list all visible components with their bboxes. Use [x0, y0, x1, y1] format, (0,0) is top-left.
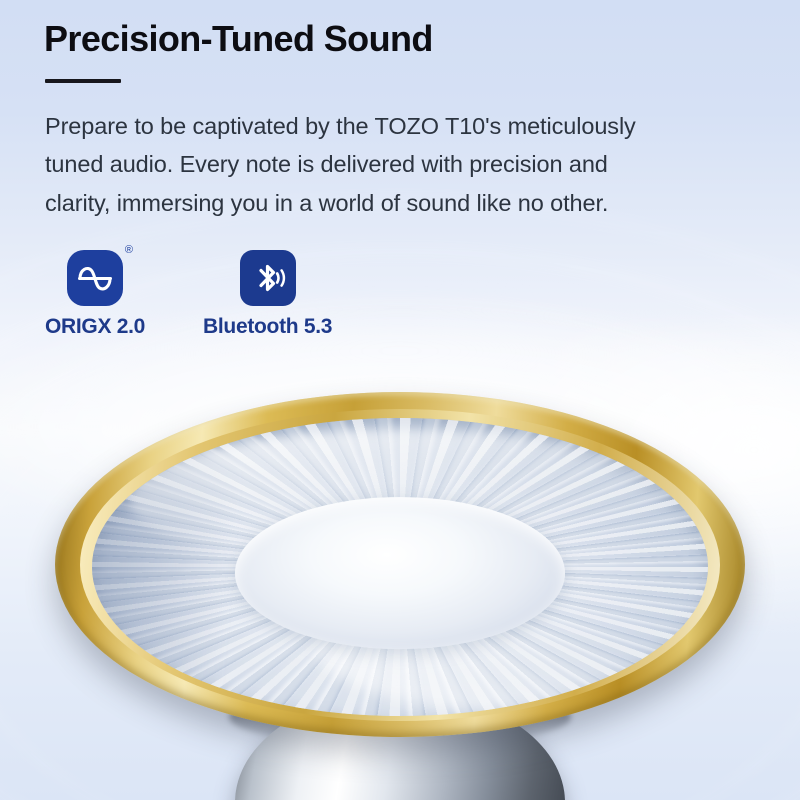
title-divider-rule — [45, 79, 121, 83]
speaker-driver-photo — [5, 392, 795, 800]
feature-badge-row: ® ORIGX 2.0 Bluetooth 5.3 — [45, 250, 800, 339]
origx-soundwave-icon — [67, 250, 123, 306]
driver-gold-rim — [55, 392, 745, 737]
bluetooth-icon — [240, 250, 296, 306]
badge-origx: ® ORIGX 2.0 — [45, 250, 145, 339]
badge-origx-label: ORIGX 2.0 — [45, 315, 145, 339]
page-title: Precision-Tuned Sound — [44, 18, 800, 59]
driver-diaphragm — [92, 418, 708, 716]
diaphragm-center-dome — [235, 497, 565, 649]
registered-trademark-icon: ® — [125, 245, 133, 256]
badge-bluetooth: Bluetooth 5.3 — [203, 250, 332, 339]
product-feature-panel: Precision-Tuned Sound Prepare to be capt… — [0, 0, 800, 800]
body-paragraph: Prepare to be captivated by the TOZO T10… — [45, 107, 655, 221]
badge-bluetooth-label: Bluetooth 5.3 — [203, 315, 332, 339]
text-content: Precision-Tuned Sound Prepare to be capt… — [0, 0, 800, 339]
origx-icon-wrap: ® — [67, 250, 123, 306]
bluetooth-icon-wrap — [240, 250, 296, 306]
